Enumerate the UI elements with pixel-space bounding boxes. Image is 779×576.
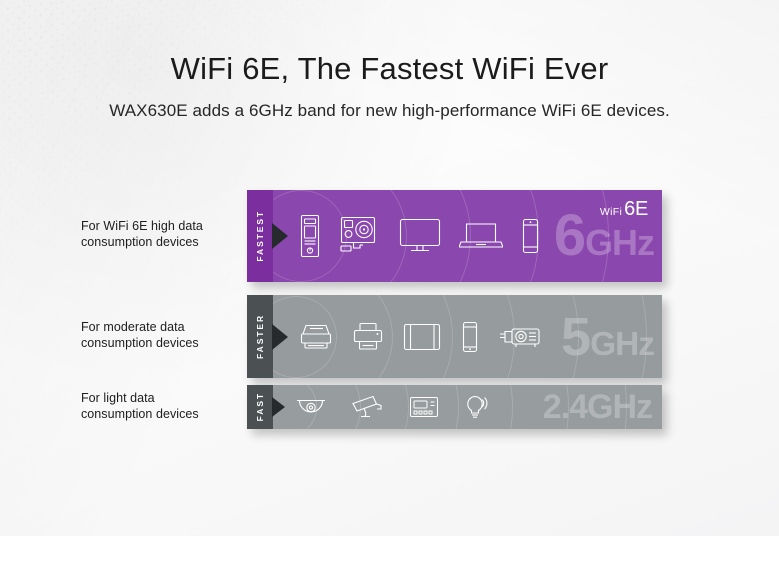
band-tab-5ghz[interactable]: FASTER: [247, 295, 273, 378]
band-body-24ghz: 2.4GHz: [273, 385, 662, 429]
gaming-console-icon: [339, 215, 381, 257]
wifi-badge-word: WiFi: [600, 207, 622, 220]
laptop-icon: [459, 221, 503, 251]
wifi-6e-badge: WiFi 6E: [600, 199, 648, 219]
band-body-6ghz: 6GHz WiFi 6E: [273, 190, 662, 282]
tablet-icon: [403, 323, 441, 351]
printer-icon: [353, 322, 383, 351]
monitor-icon: [399, 218, 441, 254]
band-tab-24ghz[interactable]: FAST: [247, 385, 273, 429]
wifi-band-diagram: For WiFi 6E high data consumption device…: [0, 0, 779, 536]
watermark-number-6ghz: 6: [554, 203, 585, 268]
band-body-5ghz: 5GHz: [273, 295, 662, 378]
band-tab-label-5ghz: FASTER: [255, 314, 265, 359]
watermark-number-5ghz: 5: [561, 307, 590, 367]
desktop-tower-icon: [299, 214, 321, 258]
band-arrow-icon: [272, 397, 285, 417]
device-icon-strip-5ghz: [273, 321, 543, 353]
watermark-unit-24ghz: GHz: [587, 388, 652, 426]
dome-camera-icon: [295, 395, 327, 419]
band-arrow-icon: [272, 223, 288, 249]
watermark-number-24ghz: 2.4: [543, 388, 587, 426]
wifi-badge-generation: 6E: [624, 199, 648, 219]
band-bar-24ghz[interactable]: FAST 2.4GHz: [247, 385, 662, 429]
band-bar-5ghz[interactable]: FASTER 5GHz: [247, 295, 662, 378]
scanner-icon: [299, 323, 333, 351]
watermark-unit-5ghz: GHz: [590, 326, 654, 363]
smart-bulb-icon: [463, 394, 489, 420]
band-description-5ghz: For moderate data consumption devices: [81, 319, 241, 351]
band-description-6ghz: For WiFi 6E high data consumption device…: [81, 218, 241, 250]
band-tab-6ghz[interactable]: FASTEST: [247, 190, 273, 282]
projector-icon: [499, 324, 543, 350]
bullet-camera-icon: [351, 394, 385, 420]
band-tab-label-24ghz: FAST: [255, 392, 265, 421]
band-tab-label-6ghz: FASTEST: [255, 210, 265, 262]
smartphone-icon: [521, 218, 540, 254]
watermark-unit-6ghz: GHz: [585, 222, 654, 263]
band-bar-6ghz[interactable]: FASTEST 6GHz WiFi 6E: [247, 190, 662, 282]
device-icon-strip-24ghz: [273, 394, 489, 420]
band-watermark-24ghz: 2.4GHz: [543, 390, 652, 424]
smartphone-icon: [461, 321, 479, 353]
device-icon-strip-6ghz: [273, 214, 540, 258]
thermostat-icon: [409, 396, 439, 418]
band-watermark-5ghz: 5GHz: [561, 310, 654, 364]
band-description-24ghz: For light data consumption devices: [81, 390, 241, 422]
band-arrow-icon: [272, 324, 288, 350]
